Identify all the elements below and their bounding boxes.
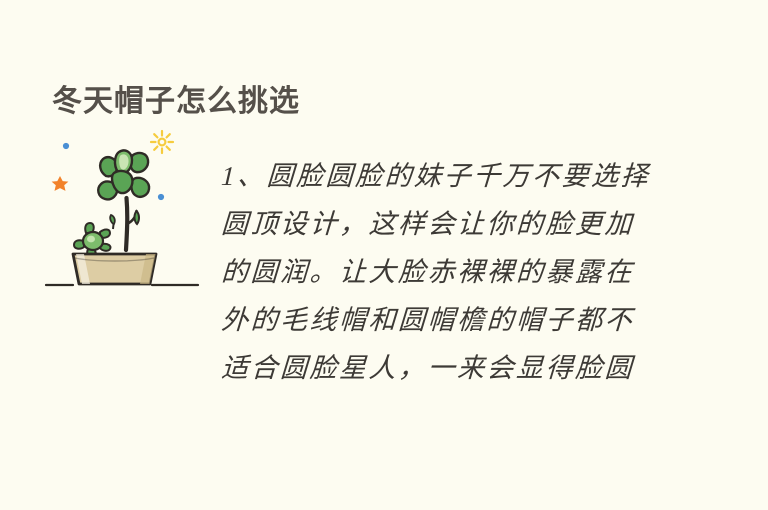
- body-line: 圆顶设计，这样会让你的脸更加: [220, 200, 683, 248]
- body-line: 1、圆脸圆脸的妹子千万不要选择: [220, 152, 683, 200]
- illustration-potted-plant: [40, 128, 220, 308]
- body-line: 适合圆脸星人，一来会显得脸圆: [220, 344, 683, 392]
- succulent-rosette-top: [98, 150, 149, 199]
- blue-dot-right-icon: [158, 194, 164, 200]
- orange-star-icon: [52, 176, 69, 191]
- blue-dot-upper-left-icon: [63, 143, 69, 149]
- succulent-rosette-small: [74, 215, 115, 258]
- article-page: 冬天帽子怎么挑选: [0, 0, 768, 510]
- flower-pot: [73, 254, 156, 284]
- body-line: 外的毛线帽和圆帽檐的帽子都不: [220, 296, 683, 344]
- page-title: 冬天帽子怎么挑选: [52, 82, 300, 122]
- plant-stem: [126, 198, 139, 250]
- yellow-sparkle-icon: [151, 131, 173, 153]
- article-body: 1、圆脸圆脸的妹子千万不要选择 圆顶设计，这样会让你的脸更加 的圆润。让大脸赤裸…: [220, 152, 680, 392]
- body-line: 的圆润。让大脸赤裸裸的暴露在: [220, 248, 683, 296]
